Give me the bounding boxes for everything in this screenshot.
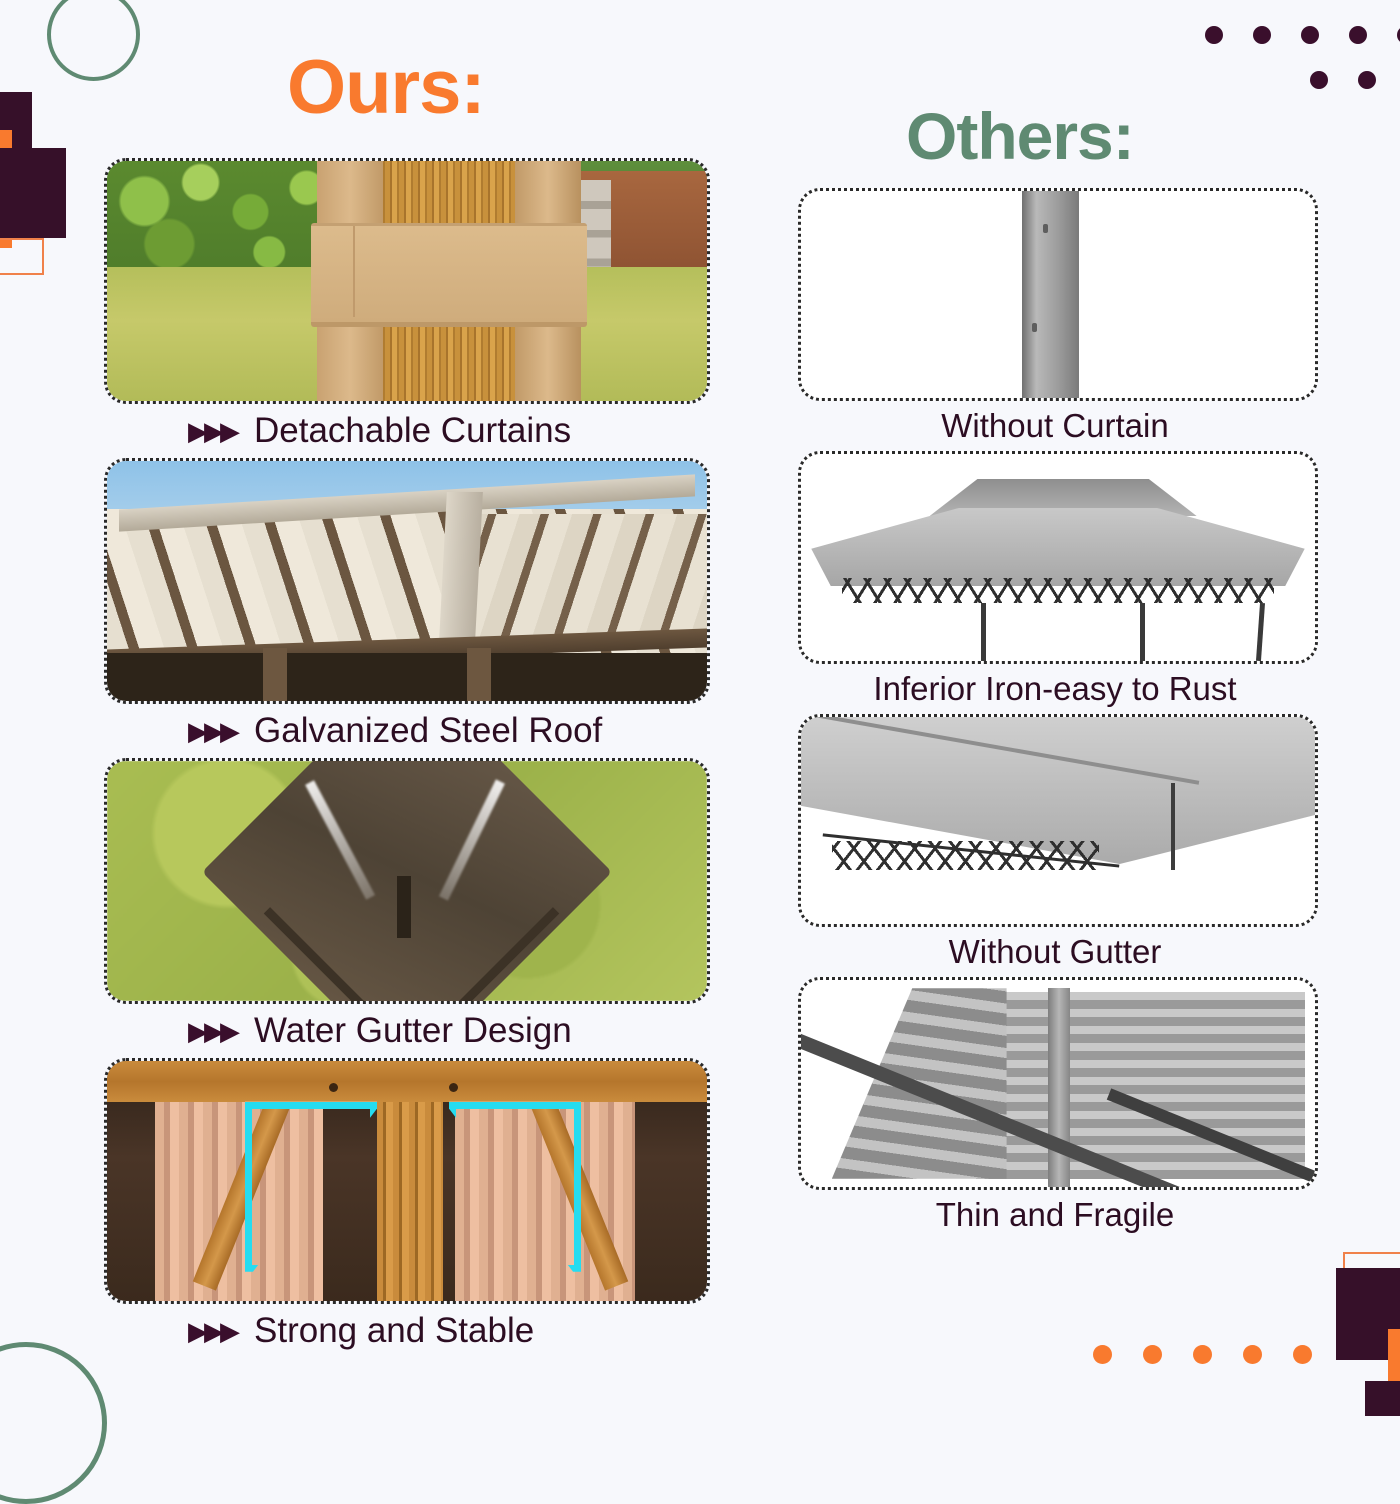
- heading-others: Others:: [906, 98, 1134, 174]
- ours-column: ▶▶▶ Detachable Curtains ▶▶▶ Galvanized S…: [104, 158, 704, 1358]
- decor-dots-top-right-row2: [1310, 71, 1400, 89]
- others-feature-label: Thin and Fragile: [798, 1190, 1312, 1240]
- photo-water-gutter: [107, 761, 707, 1001]
- ours-feature-label: Strong and Stable: [254, 1311, 534, 1351]
- decor-dots-bottom-right: [1093, 1345, 1312, 1364]
- ours-feature-galvanized-steel-roof: ▶▶▶ Galvanized Steel Roof: [104, 458, 704, 758]
- dot: [1205, 26, 1223, 44]
- ours-caption-row: ▶▶▶ Strong and Stable: [104, 1304, 704, 1358]
- dot: [1349, 26, 1367, 44]
- decor-square-plum-top-left-2: [0, 148, 66, 238]
- decor-dots-top-right-row1: [1205, 26, 1400, 44]
- dot: [1193, 1345, 1212, 1364]
- dot: [1243, 1345, 1262, 1364]
- ours-photo-water-gutter: [104, 758, 710, 1004]
- decor-rect-orange-top-left: [0, 130, 12, 248]
- others-photo-without-curtain: [798, 188, 1318, 401]
- decor-circle-top-left: [47, 0, 140, 81]
- ours-feature-strong-and-stable: ▶▶▶ Strong and Stable: [104, 1058, 704, 1358]
- ours-feature-detachable-curtains: ▶▶▶ Detachable Curtains: [104, 158, 704, 458]
- decor-square-outline-bottom-right: [1343, 1252, 1400, 1282]
- decor-square-plum-bottom-right-2: [1365, 1381, 1400, 1416]
- others-feature-inferior-iron: Inferior Iron-easy to Rust: [798, 451, 1312, 714]
- ours-feature-label: Water Gutter Design: [254, 1011, 572, 1051]
- ours-photo-strong-stable: [104, 1058, 710, 1304]
- photo-curtain-tieback: [107, 161, 707, 401]
- photo-canopy-underside: [801, 717, 1315, 924]
- dot: [1093, 1345, 1112, 1364]
- ours-feature-water-gutter-design: ▶▶▶ Water Gutter Design: [104, 758, 704, 1058]
- triple-play-arrow-icon: ▶▶▶: [188, 1018, 236, 1044]
- photo-wooden-pergola: [801, 980, 1315, 1187]
- others-photo-without-gutter: [798, 714, 1318, 927]
- dot: [1143, 1345, 1162, 1364]
- others-feature-label: Without Curtain: [798, 401, 1312, 451]
- dot: [1310, 71, 1328, 89]
- heading-ours: Ours:: [287, 44, 485, 131]
- others-feature-without-gutter: Without Gutter: [798, 714, 1312, 977]
- photo-bare-post: [801, 191, 1315, 398]
- dot: [1253, 26, 1271, 44]
- others-feature-without-curtain: Without Curtain: [798, 188, 1312, 451]
- photo-corner-braces: [107, 1061, 707, 1301]
- decor-square-plum-bottom-right-1: [1336, 1268, 1400, 1360]
- others-feature-label: Inferior Iron-easy to Rust: [798, 664, 1312, 714]
- ours-caption-row: ▶▶▶ Galvanized Steel Roof: [104, 704, 704, 758]
- ours-feature-label: Galvanized Steel Roof: [254, 711, 602, 751]
- decor-square-outline-top-left: [0, 238, 44, 275]
- others-column: Without Curtain Inferior Iron-easy to Ru…: [798, 188, 1312, 1240]
- ours-caption-row: ▶▶▶ Detachable Curtains: [104, 404, 704, 458]
- dot: [1358, 71, 1376, 89]
- ours-feature-label: Detachable Curtains: [254, 411, 571, 451]
- ours-photo-galvanized-steel-roof: [104, 458, 710, 704]
- dot: [1301, 26, 1319, 44]
- photo-popup-canopy: [801, 454, 1315, 661]
- others-feature-label: Without Gutter: [798, 927, 1312, 977]
- others-feature-thin-and-fragile: Thin and Fragile: [798, 977, 1312, 1240]
- dot: [1293, 1345, 1312, 1364]
- triple-play-arrow-icon: ▶▶▶: [188, 718, 236, 744]
- decor-square-orange-bottom-right: [1388, 1329, 1400, 1385]
- photo-steel-roof: [107, 461, 707, 701]
- decor-circle-bottom-left: [0, 1342, 107, 1504]
- triple-play-arrow-icon: ▶▶▶: [188, 1318, 236, 1344]
- triple-play-arrow-icon: ▶▶▶: [188, 418, 236, 444]
- others-photo-inferior-iron: [798, 451, 1318, 664]
- others-photo-thin-fragile: [798, 977, 1318, 1190]
- ours-caption-row: ▶▶▶ Water Gutter Design: [104, 1004, 704, 1058]
- ours-photo-detachable-curtains: [104, 158, 710, 404]
- decor-square-plum-top-left-1: [0, 92, 32, 154]
